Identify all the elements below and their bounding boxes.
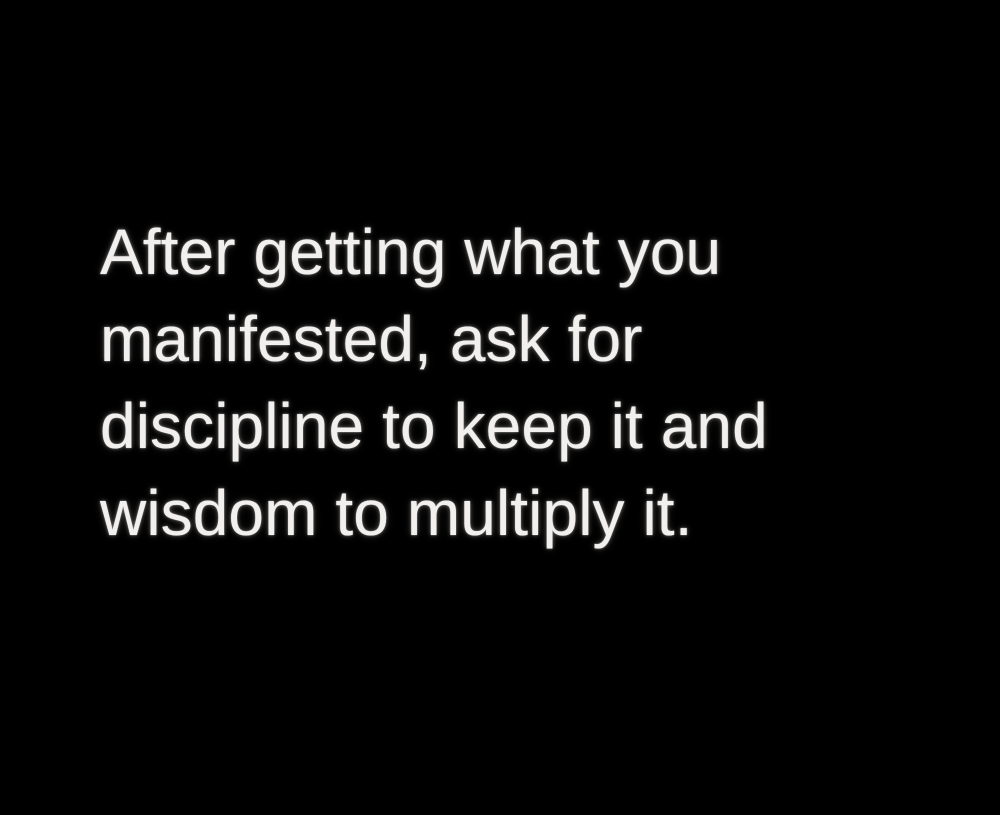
quote-text-block: After getting what you manifested, ask f… xyxy=(100,209,880,557)
quote-card: After getting what you manifested, ask f… xyxy=(0,0,1000,815)
quote-line-4: wisdom to multiply it. xyxy=(100,470,880,557)
quote-line-1: After getting what you xyxy=(100,209,880,296)
quote-line-2: manifested, ask for xyxy=(100,296,880,383)
quote-line-3: discipline to keep it and xyxy=(100,383,880,470)
